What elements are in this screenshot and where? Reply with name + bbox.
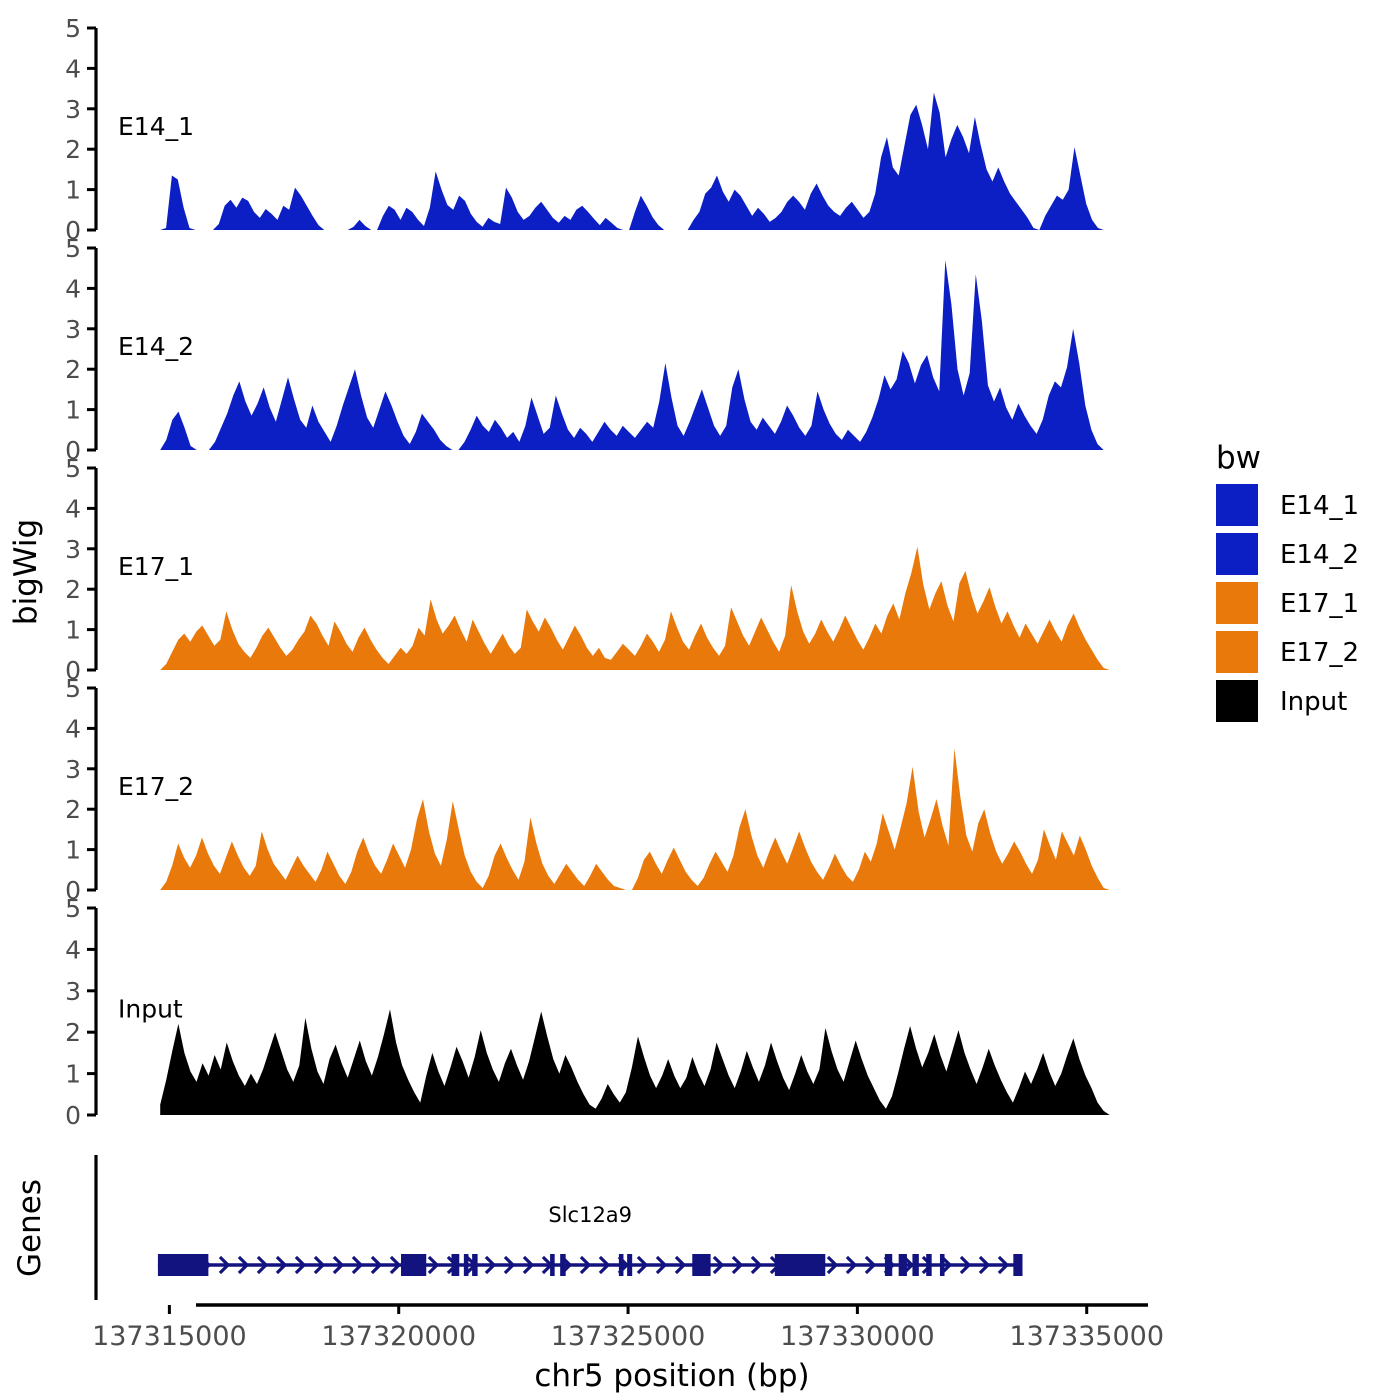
y-tick-label: 5 xyxy=(65,674,81,703)
x-tick-label: 137315000 xyxy=(92,1321,247,1352)
gene-exon xyxy=(940,1254,945,1276)
legend-label-e17_1: E17_1 xyxy=(1280,589,1359,619)
x-tick-label: 137320000 xyxy=(321,1321,476,1352)
y-tick-label: 2 xyxy=(65,355,81,384)
y-tick-label: 3 xyxy=(65,315,81,344)
gene-exon xyxy=(885,1254,892,1276)
y-tick-label: 2 xyxy=(65,135,81,164)
y-tick-label: 1 xyxy=(65,176,81,205)
legend-label-e14_2: E14_2 xyxy=(1280,540,1359,570)
gene-exon xyxy=(627,1254,632,1276)
x-tick-label: 137335000 xyxy=(1009,1321,1164,1352)
y-tick-label: 3 xyxy=(65,977,81,1006)
gene-exon xyxy=(1013,1254,1022,1276)
gene-exon xyxy=(912,1254,918,1276)
gene-name-label: Slc12a9 xyxy=(548,1203,632,1227)
legend-swatch-e17_1 xyxy=(1216,582,1258,624)
y-tick-label: 5 xyxy=(65,234,81,263)
legend-title: bw xyxy=(1216,440,1261,476)
y-tick-label: 4 xyxy=(65,714,81,743)
gene-exon xyxy=(775,1254,825,1276)
y-tick-label: 2 xyxy=(65,795,81,824)
y-axis-title: bigWig xyxy=(8,519,44,625)
y-tick-label: 2 xyxy=(65,1018,81,1047)
gene-exon xyxy=(560,1254,566,1276)
x-axis-title: chr5 position (bp) xyxy=(534,1358,809,1394)
y-tick-label: 1 xyxy=(65,396,81,425)
y-tick-label: 2 xyxy=(65,575,81,604)
y-tick-label: 0 xyxy=(65,1101,81,1130)
panel-label-e17_2: E17_2 xyxy=(118,772,194,801)
legend-entry-e14_2[interactable]: E14_2 xyxy=(1216,533,1359,575)
x-tick-label: 137330000 xyxy=(780,1321,935,1352)
genes-axis-title: Genes xyxy=(12,1179,48,1277)
gene-exon xyxy=(899,1254,907,1276)
y-tick-label: 5 xyxy=(65,894,81,923)
y-tick-label: 3 xyxy=(65,755,81,784)
gene-exon xyxy=(451,1254,459,1276)
legend-swatch-e17_2 xyxy=(1216,631,1258,673)
y-tick-label: 4 xyxy=(65,274,81,303)
y-tick-label: 3 xyxy=(65,95,81,124)
panel-label-e14_1: E14_1 xyxy=(118,112,194,141)
panel-label-e14_2: E14_2 xyxy=(118,332,194,361)
legend-swatch-input xyxy=(1216,680,1258,722)
legend-label-e17_2: E17_2 xyxy=(1280,638,1359,668)
legend-label-e14_1: E14_1 xyxy=(1280,491,1359,521)
y-tick-label: 1 xyxy=(65,1060,81,1089)
gene-exon xyxy=(401,1254,426,1276)
gene-exon xyxy=(619,1254,624,1276)
y-tick-label: 1 xyxy=(65,836,81,865)
legend-entry-e17_2[interactable]: E17_2 xyxy=(1216,631,1359,673)
legend-swatch-e14_1 xyxy=(1216,484,1258,526)
gene-exon xyxy=(464,1254,469,1276)
x-tick-label: 137325000 xyxy=(551,1321,706,1352)
legend-swatch-e14_2 xyxy=(1216,533,1258,575)
y-tick-label: 4 xyxy=(65,54,81,83)
gene-exon xyxy=(926,1254,932,1276)
y-tick-label: 1 xyxy=(65,616,81,645)
y-tick-label: 4 xyxy=(65,494,81,523)
panel-label-e17_1: E17_1 xyxy=(118,552,194,581)
legend-entry-input[interactable]: Input xyxy=(1216,680,1347,722)
legend-entry-e14_1[interactable]: E14_1 xyxy=(1216,484,1359,526)
legend-label-input: Input xyxy=(1280,687,1347,717)
gene-exon xyxy=(472,1254,478,1276)
genome-browser-figure: 012345E14_1012345E14_2012345E17_1012345E… xyxy=(0,0,1400,1400)
y-tick-label: 5 xyxy=(65,14,81,43)
y-tick-label: 5 xyxy=(65,454,81,483)
gene-exon xyxy=(692,1254,710,1276)
y-tick-label: 3 xyxy=(65,535,81,564)
chart-root: 012345E14_1012345E14_2012345E17_1012345E… xyxy=(0,0,1400,1400)
gene-exon xyxy=(550,1254,555,1276)
panel-label-input: Input xyxy=(118,995,183,1024)
y-tick-label: 4 xyxy=(65,935,81,964)
legend-entry-e17_1[interactable]: E17_1 xyxy=(1216,582,1359,624)
gene-exon xyxy=(158,1254,208,1276)
